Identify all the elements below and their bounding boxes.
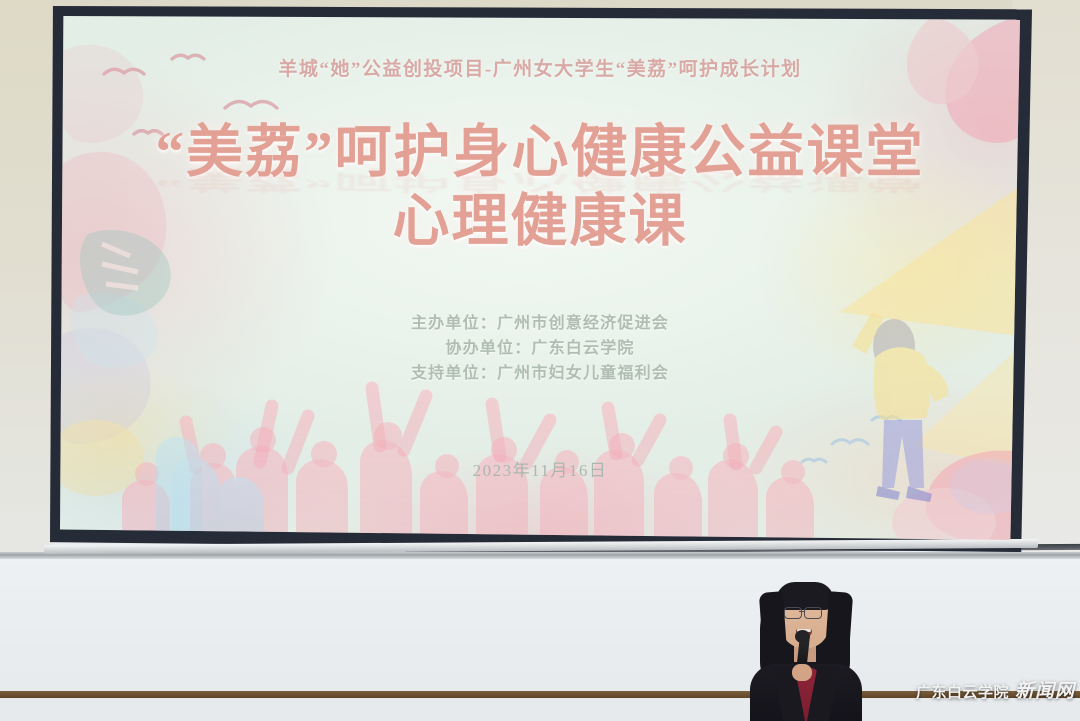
presenter-hand [792, 664, 812, 681]
slide-title-reflection: “美荔”呵护身心健康公益课堂 [60, 164, 1020, 194]
slide-subtitle-top: 羊城“她”公益创投项目-广州女大学生“美荔”呵护成长计划 [60, 54, 1020, 81]
watermark-site: 新闻网 [1015, 676, 1075, 703]
presenter-glasses-bridge [799, 611, 805, 612]
watermark-institution: 广东白云学院 [916, 681, 1009, 702]
supporter-line: 支持单位：广州市妇女儿童福利会 [60, 361, 1020, 386]
watermark: 广东白云学院 新闻网 [916, 676, 1075, 703]
slide-organizations: 主办单位：广州市创意经济促进会 协办单位：广东白云学院 支持单位：广州市妇女儿童… [60, 311, 1020, 386]
lecture-hall-scene: 羊城“她”公益创投项目-广州女大学生“美荔”呵护成长计划 “美荔”呵护身心健康公… [0, 0, 1080, 721]
slide-date: 2023年11月16日 [60, 456, 1020, 481]
organizer-line: 主办单位：广州市创意经济促进会 [60, 311, 1020, 336]
presentation-slide: 羊城“她”公益创投项目-广州女大学生“美荔”呵护成长计划 “美荔”呵护身心健康公… [60, 16, 1020, 540]
slide-title-line-2: 心理健康课 [60, 186, 1020, 258]
presenter-figure [742, 576, 868, 721]
left-wall-column [0, 0, 52, 560]
co-organizer-line: 协办单位：广东白云学院 [60, 336, 1020, 361]
presenter-hair-front [776, 582, 834, 610]
slide-text-content: 羊城“她”公益创投项目-广州女大学生“美荔”呵护成长计划 “美荔”呵护身心健康公… [60, 16, 1020, 540]
presenter-glasses-right-lens [804, 607, 822, 619]
presenter-glasses-left-lens [784, 607, 802, 619]
microphone-head-icon [795, 630, 810, 643]
